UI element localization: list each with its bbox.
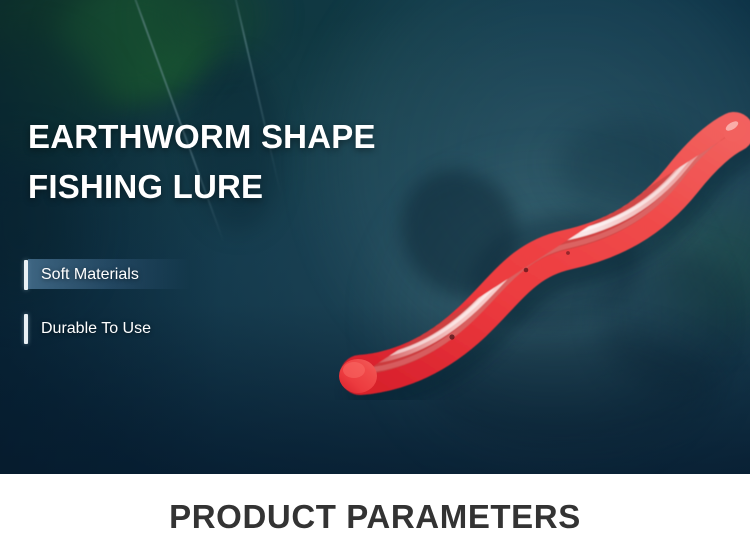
feature-item-durable-to-use: Durable To Use bbox=[24, 313, 151, 345]
headline-line-1: EARTHWORM SHAPE bbox=[28, 112, 468, 162]
feature-accent-bar bbox=[24, 314, 28, 344]
product-parameters-section: PRODUCT PARAMETERS bbox=[0, 474, 750, 548]
section-title: PRODUCT PARAMETERS bbox=[169, 498, 581, 536]
feature-list: Soft Materials Durable To Use bbox=[24, 259, 151, 367]
product-banner-page: EARTHWORM SHAPE FISHING LURE Soft Materi… bbox=[0, 0, 750, 548]
hero-banner: EARTHWORM SHAPE FISHING LURE Soft Materi… bbox=[0, 0, 750, 474]
feature-label: Soft Materials bbox=[41, 259, 139, 291]
feature-accent-bar bbox=[24, 260, 28, 290]
headline: EARTHWORM SHAPE FISHING LURE bbox=[28, 112, 468, 212]
feature-item-soft-materials: Soft Materials bbox=[24, 259, 151, 291]
feature-label: Durable To Use bbox=[41, 313, 151, 345]
headline-line-2: FISHING LURE bbox=[28, 162, 468, 212]
